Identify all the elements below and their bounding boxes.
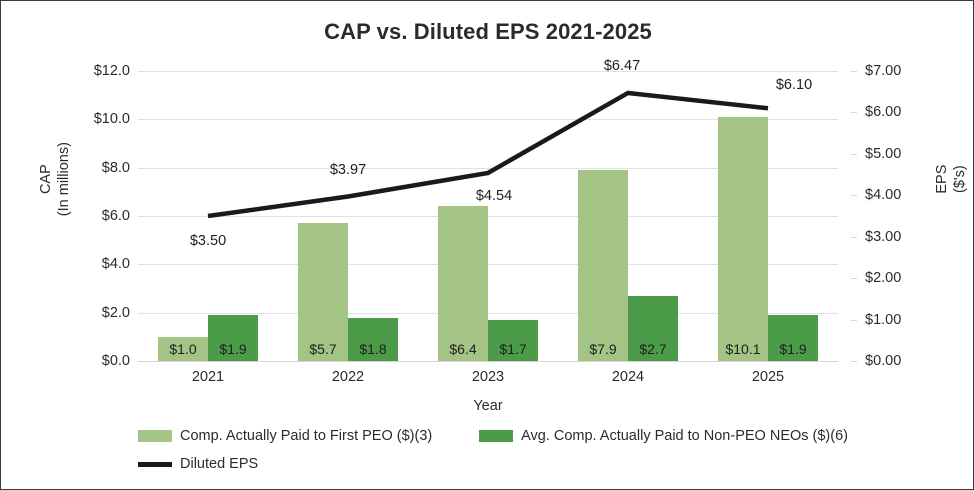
y-axis-right-tick-label: $4.00 — [865, 187, 935, 203]
y-axis-left-tick-label: $8.0 — [60, 160, 130, 176]
y-axis-right-tick-mark — [851, 154, 857, 155]
y-axis-left-ticks: $0.0$2.0$4.0$6.0$8.0$10.0$12.0 — [56, 71, 130, 361]
line-series-layer — [138, 71, 838, 361]
y-axis-right-ticks: $0.00$1.00$2.00$3.00$4.00$5.00$6.00$7.00 — [851, 71, 925, 361]
legend-swatch-peo — [138, 430, 172, 442]
y-axis-right-tick-label: $3.00 — [865, 229, 935, 245]
x-axis-tick-label: 2023 — [418, 369, 558, 393]
legend-item-non-peo[interactable]: Avg. Comp. Actually Paid to Non-PEO NEOs… — [479, 428, 848, 444]
legend-item-peo[interactable]: Comp. Actually Paid to First PEO ($)(3) — [138, 428, 479, 444]
y-axis-right-tick-label: $2.00 — [865, 270, 935, 286]
y-axis-right-tick-mark — [851, 278, 857, 279]
legend-swatch-non-peo — [479, 430, 513, 442]
legend-label-non-peo: Avg. Comp. Actually Paid to Non-PEO NEOs… — [521, 428, 848, 444]
x-axis-ticks: 20212022202320242025 — [138, 369, 838, 393]
y-axis-right-tick-label: $1.00 — [865, 312, 935, 328]
y-axis-right-tick-label: $6.00 — [865, 104, 935, 120]
y-axis-left-tick-label: $2.0 — [60, 305, 130, 321]
y-axis-right-tick-label: $5.00 — [865, 146, 935, 162]
plot-area: $1.0$1.9$5.7$1.8$6.4$1.7$7.9$2.7$10.1$1.… — [138, 71, 838, 361]
line-data-label: $3.50 — [190, 233, 226, 249]
y-axis-right-tick-mark — [851, 195, 857, 196]
x-axis-tick-label: 2025 — [698, 369, 838, 393]
y-axis-left-tick-label: $12.0 — [60, 63, 130, 79]
y-axis-right-tick-mark — [851, 71, 857, 72]
chart-title: CAP vs. Diluted EPS 2021-2025 — [1, 19, 974, 45]
x-axis-title: Year — [138, 398, 838, 414]
legend-row-1: Comp. Actually Paid to First PEO ($)(3) … — [138, 422, 848, 450]
y-axis-left-title-line1: CAP — [37, 89, 55, 269]
y-axis-right-tick-mark — [851, 320, 857, 321]
chart-legend: Comp. Actually Paid to First PEO ($)(3) … — [138, 422, 848, 478]
line-data-label: $3.97 — [330, 162, 366, 178]
y-axis-left-tick-label: $6.0 — [60, 208, 130, 224]
y-axis-right-tick-label: $7.00 — [865, 63, 935, 79]
legend-swatch-diluted-eps — [138, 462, 172, 467]
y-axis-left-tick-label: $10.0 — [60, 111, 130, 127]
y-axis-right-tick-mark — [851, 112, 857, 113]
y-axis-left-tick-label: $0.0 — [60, 353, 130, 369]
line-data-label: $4.54 — [476, 188, 512, 204]
x-axis-tick-label: 2021 — [138, 369, 278, 393]
legend-label-diluted-eps: Diluted EPS — [180, 456, 258, 472]
chart-container: CAP vs. Diluted EPS 2021-2025 CAP (In mi… — [0, 0, 974, 490]
x-axis-tick-label: 2024 — [558, 369, 698, 393]
legend-row-2: Diluted EPS — [138, 450, 848, 478]
y-axis-left-tick-label: $4.0 — [60, 256, 130, 272]
y-axis-right-tick-label: $0.00 — [865, 353, 935, 369]
gridline — [138, 361, 838, 362]
y-axis-right-tick-mark — [851, 237, 857, 238]
legend-label-peo: Comp. Actually Paid to First PEO ($)(3) — [180, 428, 432, 444]
y-axis-right-title-line2: ($'s) — [951, 89, 969, 269]
line-data-label: $6.47 — [604, 58, 640, 74]
x-axis-tick-label: 2022 — [278, 369, 418, 393]
legend-item-diluted-eps[interactable]: Diluted EPS — [138, 456, 558, 472]
line-data-label: $6.10 — [776, 77, 812, 93]
y-axis-right-tick-mark — [851, 361, 857, 362]
y-axis-right-title: EPS ($'s) — [933, 89, 969, 269]
y-axis-right-title-line1: EPS — [933, 89, 951, 269]
